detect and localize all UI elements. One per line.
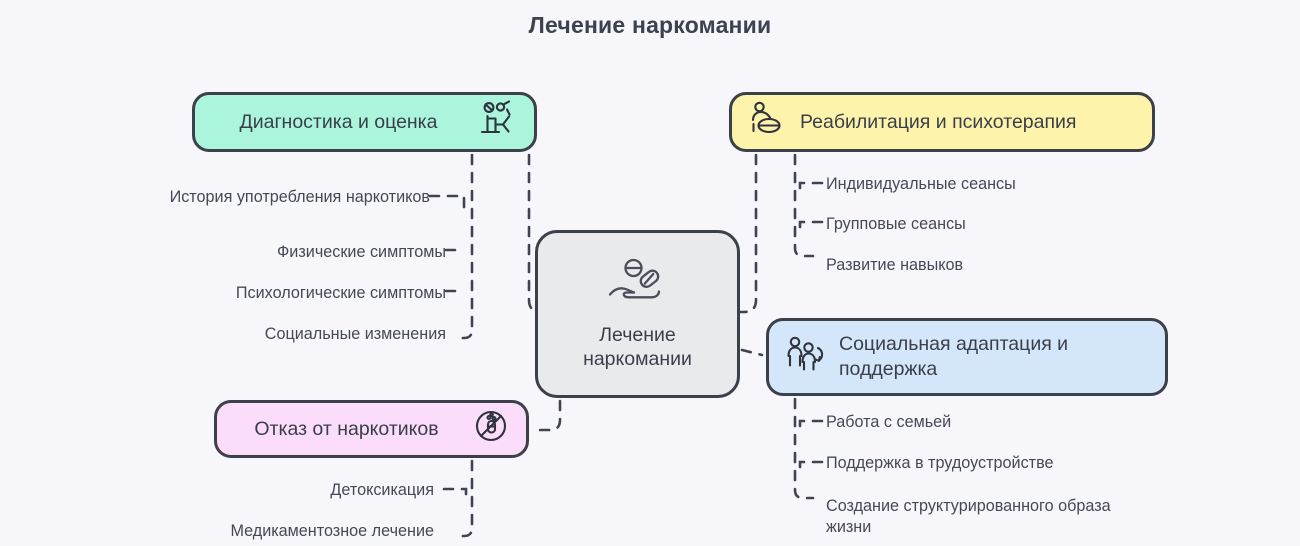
- branch-node-social-line1: Социальная адаптация и: [839, 333, 1068, 355]
- leaf-diagnostics-0: История употребления наркотиков: [100, 187, 430, 208]
- branch-node-rehab[interactable]: Реабилитация и психотерапия: [729, 92, 1155, 152]
- no-drugs-icon: [472, 407, 510, 452]
- mindmap-canvas: Лечение наркомании Диагностика и оценка: [0, 0, 1300, 546]
- leaf-social-2: Создание структурированного образа жизни: [826, 496, 1134, 539]
- leaf-refusal-0: Детоксикация: [110, 480, 434, 501]
- leaf-rehab-2: Развитие навыков: [826, 255, 963, 276]
- leaf-diagnostics-2: Психологические симптомы: [100, 283, 446, 304]
- person-assessment-icon: [478, 100, 518, 145]
- leaf-rehab-1: Групповые сеансы: [826, 214, 966, 235]
- connector-social-item-1: [800, 462, 822, 476]
- leaf-social-0: Работа с семьей: [826, 412, 951, 433]
- connector-center-to-refusal: [534, 401, 560, 430]
- people-support-icon: [785, 334, 827, 381]
- therapy-session-icon: [748, 100, 788, 145]
- connector-social-items: [795, 399, 813, 498]
- branch-node-rehab-label: Реабилитация и психотерапия: [800, 110, 1136, 135]
- center-node[interactable]: Лечение наркомании: [535, 230, 740, 398]
- branch-node-social-line2: поддержка: [839, 358, 937, 380]
- leaf-diagnostics-1: Физические симптомы: [100, 242, 446, 263]
- connector-refusal-items: [454, 461, 472, 536]
- connector-social-item-0: [800, 421, 822, 434]
- branch-node-social[interactable]: Социальная адаптация и поддержка: [766, 318, 1168, 396]
- branch-node-refusal[interactable]: Отказ от наркотиков: [214, 400, 529, 458]
- hand-holding-pills-icon: [607, 256, 669, 313]
- connector-refusal-item-0: [444, 489, 466, 502]
- connector-diagnostics-item-0: [430, 196, 464, 210]
- leaf-refusal-1: Медикаментозное лечение: [110, 521, 434, 542]
- center-node-line2: наркомании: [583, 347, 692, 372]
- connector-rehab-item-1: [800, 222, 822, 236]
- connector-diagnostics-items: [456, 155, 472, 338]
- branch-node-social-label: Социальная адаптация и поддержка: [839, 332, 1149, 383]
- leaf-social-1: Поддержка в трудоустройстве: [826, 453, 1054, 474]
- connector-rehab-item-0: [800, 183, 822, 196]
- leaf-rehab-0: Индивидуальные сеансы: [826, 174, 1016, 195]
- connector-rehab-items: [795, 155, 813, 256]
- center-node-text: Лечение наркомании: [583, 323, 692, 372]
- branch-node-diagnostics[interactable]: Диагностика и оценка: [192, 92, 537, 152]
- center-node-line1: Лечение: [583, 323, 692, 348]
- connector-center-to-social: [742, 350, 762, 355]
- branch-node-refusal-label: Отказ от наркотиков: [233, 417, 460, 442]
- branch-node-diagnostics-label: Диагностика и оценка: [211, 110, 466, 135]
- leaf-diagnostics-3: Социальные изменения: [100, 324, 446, 345]
